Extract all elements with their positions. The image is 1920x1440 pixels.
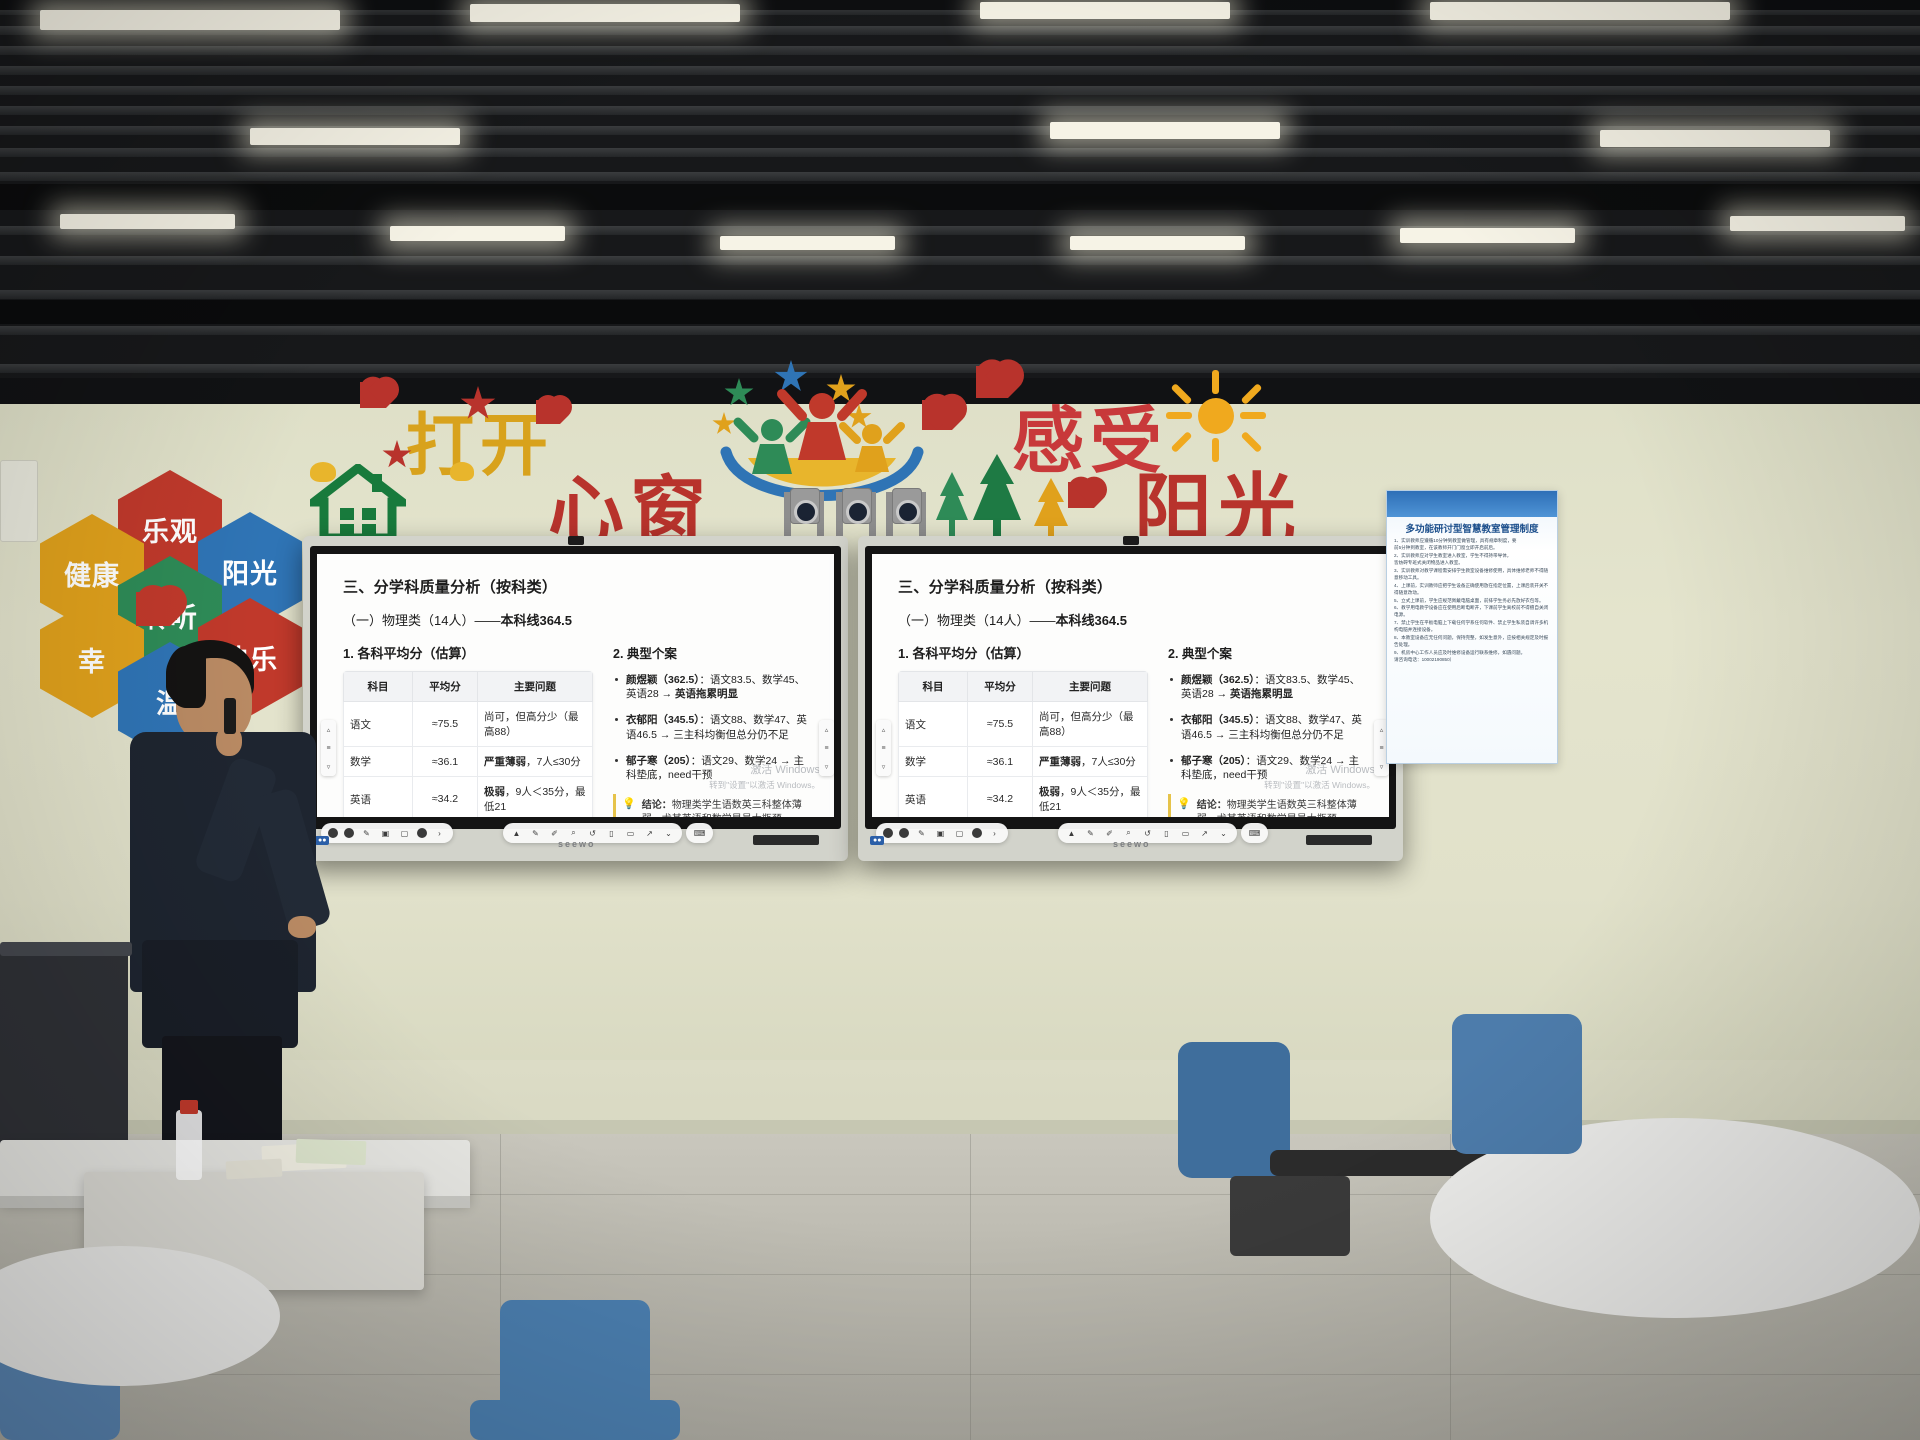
- cell-problem: 极弱，9人＜35分，最低21: [1033, 777, 1148, 818]
- chevron-right-icon[interactable]: ›: [433, 827, 446, 840]
- screen-right[interactable]: 三、分学科质量分析（按科类） （一）物理类（14人）——本科线364.5 1. …: [872, 554, 1389, 817]
- heart-icon: [136, 592, 170, 626]
- cell-problem: 严重薄弱，7人≤30分: [478, 747, 593, 777]
- ceiling-light: [60, 214, 235, 229]
- ceiling: [0, 0, 1920, 420]
- wall-box: [0, 460, 38, 542]
- more-icon[interactable]: [972, 828, 982, 838]
- hex-label: 阳光: [222, 552, 278, 591]
- poster-line: 6、教学用电教学设备应在使用后断电断开，下课前学生离校前不得擅自关闭电源。: [1394, 604, 1550, 619]
- conclusion-label: 结论：: [1197, 800, 1227, 811]
- down-chevron-icon[interactable]: ▿: [882, 763, 886, 771]
- window-icon[interactable]: ▭: [1179, 827, 1192, 840]
- display-side-controls-left-right[interactable]: ▵ ≡ ▿: [819, 720, 834, 776]
- bottle-cap: [180, 1100, 198, 1114]
- ceiling-light: [1070, 236, 1245, 250]
- ceiling-light: [1730, 216, 1905, 231]
- cell-problem: 尚可，但高分少（最高88）: [478, 702, 593, 747]
- heart-icon: [976, 366, 1008, 398]
- heart-icon: [360, 382, 386, 408]
- screenshot-icon[interactable]: ▣: [379, 827, 392, 840]
- record-icon[interactable]: [899, 828, 909, 838]
- menu-icon[interactable]: ≡: [824, 745, 828, 752]
- more-icon[interactable]: [417, 828, 427, 838]
- chair-base: [1230, 1176, 1350, 1256]
- search-icon[interactable]: ⌕: [1122, 827, 1135, 840]
- poster-line: 2、实训教师应对学生教室进入教室，学生不得持带导体，: [1394, 552, 1550, 559]
- highlighter-icon[interactable]: ✐: [1103, 827, 1116, 840]
- cursor-icon[interactable]: ▲: [510, 827, 523, 840]
- ptz-camera: [884, 486, 928, 542]
- cell-subject: 英语: [899, 777, 968, 818]
- cell-average: ≈75.5: [413, 702, 478, 747]
- highlighter-icon[interactable]: ✐: [548, 827, 561, 840]
- table-row: 英语≈34.2极弱，9人＜35分，最低21: [899, 777, 1148, 818]
- conclusion-box: 💡 结论：物理类学生语数英三科整体薄弱，尤其英语和数学是最大瓶颈。: [1168, 794, 1367, 817]
- hex-label: 幸: [78, 640, 106, 679]
- display-brand-left: seewo: [558, 839, 596, 849]
- pen-icon[interactable]: ✎: [529, 827, 542, 840]
- camera-icon[interactable]: ▢: [398, 827, 411, 840]
- th-average: 平均分: [968, 672, 1033, 702]
- poster-line: 9、机房中心工作人员应及时维修设备运行联系维修，如遇问题。: [1394, 649, 1550, 656]
- display-camera-icon: [1123, 536, 1139, 545]
- cell-average: ≈75.5: [968, 702, 1033, 747]
- screen-left[interactable]: 三、分学科质量分析（按科类） （一）物理类（14人）——本科线364.5 1. …: [317, 554, 834, 817]
- cell-average: ≈36.1: [413, 747, 478, 777]
- ceiling-light: [980, 2, 1230, 19]
- list-item: 衣郁阳（345.5）：语文88、数学47、英语46.5 → 三主科均衡但总分仍不…: [1168, 713, 1367, 741]
- poster-line: 3、实训教师对教学课程需安排学生教室设备维修使用，具体维修老师不得随意移动工具。: [1394, 567, 1550, 582]
- up-chevron-icon[interactable]: ▵: [1380, 726, 1384, 734]
- camera-icon[interactable]: ▢: [953, 827, 966, 840]
- page-icon[interactable]: ▯: [1160, 827, 1173, 840]
- ceiling-light: [1430, 2, 1730, 20]
- poster-line: 请咨询电话：10002190850）: [1394, 656, 1550, 663]
- up-chevron-icon[interactable]: ▵: [882, 726, 886, 734]
- notebook: [226, 1159, 283, 1180]
- interactive-display-right[interactable]: 三、分学科质量分析（按科类） （一）物理类（14人）——本科线364.5 1. …: [858, 536, 1403, 861]
- cursor-icon[interactable]: ▲: [1065, 827, 1078, 840]
- keyboard-icon[interactable]: ⌨: [693, 827, 706, 840]
- display-brand-right: seewo: [1113, 839, 1151, 849]
- interactive-display-left[interactable]: 三、分学科质量分析（按科类） （一）物理类（14人）——本科线364.5 1. …: [303, 536, 848, 861]
- poster-body: 1、实训教师应遵循10分钟到教室做管理，具有规章制度，要前5分钟到教室，在该教师…: [1394, 537, 1550, 663]
- section-2-heading: 2. 典型个案: [1168, 643, 1367, 662]
- slide-subtitle: （一）物理类（14人）——本科线364.5: [898, 610, 1367, 629]
- hand-pointing: [288, 916, 316, 938]
- display-ports-left: [753, 835, 819, 845]
- chevron-right-icon[interactable]: ›: [988, 827, 1001, 840]
- poster-line: 7、禁止学生在平板电脑上下载任何学系任何软件、禁止学生私装自调许多机构电脑并连接…: [1394, 619, 1550, 634]
- poster-title: 多功能研讨型智慧教室管理制度: [1387, 521, 1557, 535]
- ceiling-light: [390, 226, 565, 241]
- ceiling-light: [1050, 122, 1280, 139]
- windows-activation-watermark: 激活 Windows 转到"设置"以激活 Windows。: [1264, 763, 1375, 791]
- section-2-heading: 2. 典型个案: [613, 643, 812, 662]
- slide-subtitle: （一）物理类（14人）——本科线364.5: [343, 610, 812, 629]
- section-1-heading: 1. 各科平均分（估算）: [343, 643, 593, 662]
- tree-icon: [966, 452, 1028, 544]
- tree-icon: [1028, 476, 1074, 542]
- screenshot-icon[interactable]: ▣: [934, 827, 947, 840]
- subject-average-table: 科目 平均分 主要问题 语文≈75.5尚可，但高分少（最高88）数学≈36.1严…: [343, 671, 593, 817]
- poster-line: 4、上课前，实训教师应把学生设备正确使用放在指定位置，上课后装开关不得随意改动。: [1394, 582, 1550, 597]
- ceiling-light: [250, 128, 460, 145]
- down-chevron-icon[interactable]: ▿: [1380, 763, 1384, 771]
- list-item: 衣郁阳（345.5）：语文88、数学47、英语46.5 → 三主科均衡但总分仍不…: [613, 713, 812, 741]
- table-row: 数学≈36.1严重薄弱，7人≤30分: [344, 747, 593, 777]
- cell-average: ≈34.2: [413, 777, 478, 818]
- display-logo-tag-right: ●●: [870, 836, 884, 845]
- share-icon[interactable]: ↗: [1198, 827, 1211, 840]
- search-icon[interactable]: ⌕: [567, 827, 580, 840]
- undo-icon[interactable]: ↺: [1141, 827, 1154, 840]
- page-icon[interactable]: ▯: [605, 827, 618, 840]
- list-item: 颜煜颖（362.5）：语文83.5、数学45、英语28 → 英语拖累明显: [1168, 673, 1367, 701]
- keyboard-icon[interactable]: ⌨: [1248, 827, 1261, 840]
- display-camera-icon: [568, 536, 584, 545]
- ceiling-light: [1600, 130, 1830, 147]
- table-header-row: 科目 平均分 主要问题: [899, 672, 1148, 702]
- ceiling-light: [40, 10, 340, 30]
- lightbulb-icon: 💡: [622, 799, 636, 810]
- th-problem: 主要问题: [1033, 672, 1148, 702]
- th-problem: 主要问题: [478, 672, 593, 702]
- heart-icon: [536, 400, 560, 424]
- hex-label: 健康: [64, 554, 120, 593]
- cell-average: ≈34.2: [968, 777, 1033, 818]
- table-row: 语文≈75.5尚可，但高分少（最高88）: [899, 702, 1148, 747]
- keyboard-button[interactable]: ⌨: [686, 823, 713, 843]
- cell-average: ≈36.1: [968, 747, 1033, 777]
- poster-line: 前5分钟到教室，在该教师开门门窗立即开启前后。: [1394, 544, 1550, 551]
- cell-problem: 极弱，9人＜35分，最低21: [478, 777, 593, 818]
- th-average: 平均分: [413, 672, 478, 702]
- toolbar-left-cluster[interactable]: ✎ ▣ ▢ ›: [876, 823, 1008, 843]
- cabinet-top: [0, 942, 132, 956]
- conclusion-label: 结论：: [642, 800, 672, 811]
- th-subject: 科目: [899, 672, 968, 702]
- hex-label: 乐观: [142, 510, 198, 549]
- microphone: [224, 698, 236, 734]
- table-row: 语文≈75.5尚可，但高分少（最高88）: [344, 702, 593, 747]
- conclusion-box: 💡 结论：物理类学生语数英三科整体薄弱，尤其英语和数学是最大瓶颈。: [613, 794, 812, 817]
- table-row: 数学≈36.1严重薄弱，7人≤30分: [899, 747, 1148, 777]
- chair-blue-seat: [470, 1400, 680, 1440]
- down-chevron-icon[interactable]: ▿: [825, 763, 829, 771]
- presenter: [120, 640, 380, 1160]
- classroom-rules-poster: 多功能研讨型智慧教室管理制度 1、实训教师应遵循10分钟到教室做管理，具有规章制…: [1386, 490, 1558, 764]
- house-icon: [310, 464, 406, 542]
- subject-average-table: 科目 平均分 主要问题 语文≈75.5尚可，但高分少（最高88）数学≈36.1严…: [898, 671, 1148, 817]
- share-icon[interactable]: ↗: [643, 827, 656, 840]
- menu-icon[interactable]: ≡: [1379, 745, 1383, 752]
- sun-icon: [1160, 368, 1270, 468]
- water-bottle: [176, 1110, 202, 1180]
- lower-jacket: [142, 940, 298, 1048]
- table-row: 英语≈34.2极弱，9人＜35分，最低21: [344, 777, 593, 818]
- cell-subject: 语文: [899, 702, 968, 747]
- hair-back: [166, 646, 206, 708]
- chevron-down-icon[interactable]: ⌄: [662, 827, 675, 840]
- display-side-controls-right[interactable]: ▵ ≡ ▿: [876, 720, 891, 776]
- chair-blue-right: [1452, 1014, 1582, 1154]
- ptz-camera: [834, 486, 878, 542]
- display-ports-right: [1306, 835, 1372, 845]
- section-1-heading: 1. 各科平均分（估算）: [898, 643, 1148, 662]
- cell-subject: 数学: [899, 747, 968, 777]
- poster-line: 皆妨碍专班式关闭物品进入教室。: [1394, 559, 1550, 566]
- poster-header-bar: [1387, 491, 1557, 517]
- pen-icon[interactable]: ✎: [915, 827, 928, 840]
- undo-icon[interactable]: ↺: [586, 827, 599, 840]
- up-chevron-icon[interactable]: ▵: [825, 726, 829, 734]
- window-icon[interactable]: ▭: [624, 827, 637, 840]
- list-item: 颜煜颖（362.5）：语文83.5、数学45、英语28 → 英语拖累明显: [613, 673, 812, 701]
- lightbulb-icon: 💡: [1177, 799, 1191, 810]
- ceiling-light: [720, 236, 895, 250]
- ceiling-light: [470, 4, 740, 22]
- poster-line: 1、实训教师应遵循10分钟到教室做管理，具有规章制度，要: [1394, 537, 1550, 544]
- classroom-photo: 乐观 阳光 健康 聆听 快乐 幸 温 打开 心窗 感受 阳光: [0, 0, 1920, 1440]
- slide-title: 三、分学科质量分析（按科类）: [898, 576, 1367, 597]
- poster-line: 5、立式上课前，学生应规范佩戴电脑桌面，前排学生务必先放好衣包等。: [1394, 597, 1550, 604]
- keyboard-button[interactable]: ⌨: [1241, 823, 1268, 843]
- power-icon[interactable]: [883, 828, 893, 838]
- documents-green: [296, 1139, 367, 1165]
- chevron-down-icon[interactable]: ⌄: [1217, 827, 1230, 840]
- poster-line: 8、本教室设备应无任何问题，保持完整，如发生意外，应按相关规定及时报告处理。: [1394, 634, 1550, 649]
- ceiling-light: [1400, 228, 1575, 243]
- slide-title: 三、分学科质量分析（按科类）: [343, 576, 812, 597]
- table-header-row: 科目 平均分 主要问题: [344, 672, 593, 702]
- cell-problem: 严重薄弱，7人≤30分: [1033, 747, 1148, 777]
- butterfly-icon: [450, 462, 474, 481]
- windows-activation-watermark: 激活 Windows 转到"设置"以激活 Windows。: [709, 763, 820, 791]
- ptz-camera: [782, 486, 826, 542]
- cell-problem: 尚可，但高分少（最高88）: [1033, 702, 1148, 747]
- menu-icon[interactable]: ≡: [881, 745, 885, 752]
- pen-icon[interactable]: ✎: [1084, 827, 1097, 840]
